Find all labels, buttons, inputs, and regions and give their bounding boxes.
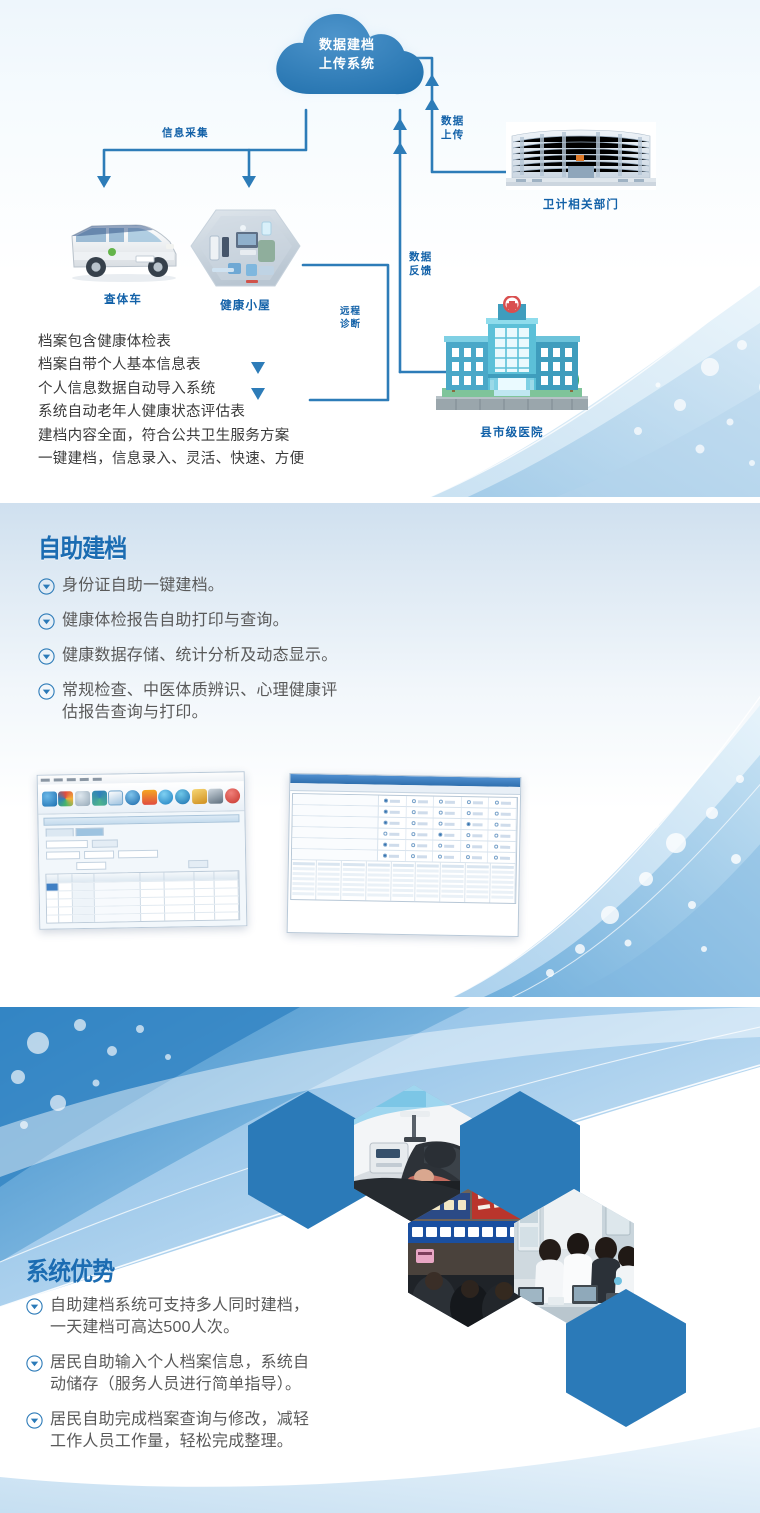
cell	[95, 890, 141, 898]
cell	[165, 913, 195, 921]
option-2[interactable]	[406, 818, 434, 828]
bullet-line-2: 工作人员工作量，轻松完成整理。	[50, 1431, 309, 1453]
flow-label-remote-diagnosis: 远程 诊断	[340, 306, 361, 332]
cell	[165, 905, 195, 913]
query-button[interactable]	[92, 839, 118, 847]
flow-label-info-collect: 信息采集	[162, 126, 209, 140]
cell	[195, 913, 215, 920]
mobile-checkup-van-image	[62, 212, 184, 284]
bullet-line-1: 居民自助完成档案查询与修改，减轻	[50, 1411, 309, 1428]
option-1[interactable]	[379, 796, 407, 806]
checkbox-group[interactable]	[46, 862, 72, 870]
option-4[interactable]	[462, 797, 490, 807]
toolbar-icon-search[interactable]	[75, 791, 90, 806]
option-4[interactable]	[461, 830, 489, 840]
feature-item: 建档内容全面，符合公共卫生服务方案	[38, 425, 458, 448]
section3-bullet-list: 自助建档系统可支持多人同时建档， 一天建档可高达500人次。 居民自助输入个人档…	[26, 1295, 466, 1466]
app-workspace	[38, 811, 247, 930]
flow-label-data-feedback-line1: 数据	[409, 250, 432, 264]
option-5[interactable]	[488, 852, 516, 862]
cell	[59, 883, 73, 890]
question-cell	[293, 794, 379, 805]
option-3[interactable]	[433, 830, 461, 840]
bullet-line-1: 自助建档系统可支持多人同时建档，	[50, 1297, 309, 1314]
cloud-line-2: 上传系统	[262, 55, 432, 74]
cell	[47, 915, 59, 922]
list-item-text: 常规检查、中医体质辨识、心理健康评 估报告查询与打印。	[62, 680, 337, 724]
cell	[215, 888, 239, 895]
menu-item[interactable]	[93, 778, 102, 781]
question-cell	[292, 827, 378, 838]
cell	[195, 897, 215, 904]
cell	[47, 907, 59, 914]
cell	[47, 891, 59, 898]
cell	[165, 881, 195, 889]
chevron-down-circle-icon	[38, 683, 55, 700]
matrix-column[interactable]	[341, 861, 367, 900]
col-gender	[140, 873, 164, 881]
cell	[59, 899, 73, 906]
cell	[141, 914, 165, 921]
option-4[interactable]	[461, 852, 489, 862]
feature-item: 系统自动老年人健康状态评估表	[38, 401, 458, 424]
option-5[interactable]	[489, 819, 517, 829]
option-3[interactable]	[433, 841, 461, 851]
cloud-line-1: 数据建档	[262, 36, 432, 55]
health-hut-image	[188, 206, 303, 292]
toolbar-icon-chart[interactable]	[142, 790, 157, 805]
bullet-line-1: 常规检查、中医体质辨识、心理健康评	[62, 682, 337, 699]
list-item-text: 居民自助完成档案查询与修改，减轻 工作人员工作量，轻松完成整理。	[50, 1409, 309, 1453]
question-cell	[293, 805, 379, 816]
toolbar-icon-refresh[interactable]	[175, 789, 190, 804]
bullet-line-2: 一天建档可高达500人次。	[50, 1317, 309, 1339]
col-remark	[214, 871, 238, 879]
date-input[interactable]	[46, 839, 88, 848]
option-3[interactable]	[434, 819, 462, 829]
cell	[59, 915, 73, 922]
cell	[73, 899, 95, 906]
cell	[95, 882, 141, 890]
flow-label-data-feedback: 数据 反馈	[409, 250, 432, 278]
matrix-column[interactable]	[416, 862, 442, 901]
feature-item: 一键建档，信息录入、灵活、快速、方便	[38, 448, 458, 471]
list-item-text: 自助建档系统可支持多人同时建档， 一天建档可高达500人次。	[50, 1295, 309, 1339]
menu-item[interactable]	[80, 778, 89, 781]
option-3[interactable]	[434, 797, 462, 807]
option-1[interactable]	[378, 851, 406, 861]
option-2[interactable]	[406, 829, 434, 839]
option-3[interactable]	[434, 808, 462, 818]
section3-title: 系统优势	[26, 1252, 114, 1288]
cell	[141, 890, 165, 897]
option-1[interactable]	[379, 807, 407, 817]
cell	[47, 883, 59, 890]
option-5[interactable]	[489, 797, 517, 807]
option-2[interactable]	[406, 807, 434, 817]
cell	[141, 882, 165, 889]
cell	[215, 904, 239, 911]
question-cell	[292, 838, 378, 849]
option-3[interactable]	[433, 852, 461, 862]
cell	[195, 881, 215, 888]
menu-item[interactable]	[41, 779, 50, 782]
assessment-table	[290, 793, 518, 904]
bullet-line-2: 动储存（服务人员进行简单指导）。	[50, 1374, 309, 1396]
cloud-label: 数据建档 上传系统	[262, 36, 432, 74]
question-cell	[292, 849, 378, 860]
toolbar-icon-tools[interactable]	[208, 789, 223, 804]
section2-title: 自助建档	[38, 529, 126, 565]
bullet-line-1: 健康体检报告自助打印与查询。	[62, 612, 289, 629]
unit-input[interactable]	[46, 851, 80, 860]
col-date	[164, 872, 194, 881]
cell	[165, 889, 195, 897]
flow-label-remote-diagnosis-line2: 诊断	[340, 319, 361, 332]
flow-label-remote-diagnosis-line1: 远程	[340, 306, 361, 319]
poster-page: 数据建档 上传系统 信息采集 数据 上传 数据 反馈 远程 诊断	[0, 0, 760, 1513]
list-item: 健康体检报告自助打印与查询。	[38, 610, 478, 632]
matrix-column[interactable]	[490, 864, 516, 903]
section-system-advantages: 系统优势 自助建档系统可支持多人同时建档， 一天建档可高达500人次。	[0, 1007, 760, 1513]
section-flow-diagram: 数据建档 上传系统 信息采集 数据 上传 数据 反馈 远程 诊断	[0, 0, 760, 497]
list-item-text: 健康数据存储、统计分析及动态显示。	[62, 645, 337, 667]
section-self-service-archiving: 自助建档 身份证自助一键建档。 健康体检报告自助打印与查询。	[0, 503, 760, 997]
screenshot-assessment-form-app[interactable]	[287, 773, 522, 937]
toolbar-icon-document[interactable]	[108, 790, 123, 805]
cell	[141, 898, 165, 905]
section2-bullet-list: 身份证自助一键建档。 健康体检报告自助打印与查询。 健康数据存储、统计分	[38, 575, 478, 737]
chevron-down-circle-icon	[38, 648, 55, 665]
cell	[95, 898, 141, 906]
tab-strip	[46, 825, 242, 836]
cell	[215, 896, 239, 903]
bullet-line-1: 健康数据存储、统计分析及动态显示。	[62, 647, 337, 664]
chevron-down-circle-icon	[26, 1298, 43, 1315]
list-item: 居民自助完成档案查询与修改，减轻 工作人员工作量，轻松完成整理。	[26, 1409, 466, 1453]
bullet-line-2: 估报告查询与打印。	[62, 702, 337, 724]
toolbar-icon-print[interactable]	[42, 791, 57, 806]
chevron-down-circle-icon	[38, 613, 55, 630]
option-2[interactable]	[406, 840, 434, 850]
name-input[interactable]	[84, 850, 114, 859]
node-label-health-van: 查体车	[62, 291, 184, 307]
col-idcard	[94, 873, 140, 882]
toolbar-icon-exit[interactable]	[225, 788, 240, 803]
question-cell	[292, 816, 378, 827]
list-item: 常规检查、中医体质辨识、心理健康评 估报告查询与打印。	[38, 680, 478, 724]
flow-label-data-feedback-line2: 反馈	[409, 264, 432, 278]
hex-solid-1	[248, 1091, 368, 1229]
option-1[interactable]	[378, 818, 406, 828]
checkbox[interactable]	[162, 860, 184, 868]
bullet-line-1: 居民自助输入个人档案信息，系统自	[50, 1354, 309, 1371]
cloud-node-data-upload-system: 数据建档 上传系统	[262, 6, 432, 110]
matrix-column[interactable]	[441, 863, 467, 902]
matrix-column[interactable]	[465, 863, 491, 902]
node-label-health-hut: 健康小屋	[188, 297, 303, 313]
col-index	[58, 874, 72, 882]
toolbar-icon-user[interactable]	[158, 789, 173, 804]
col-status	[194, 872, 214, 880]
chevron-down-circle-icon	[26, 1412, 43, 1429]
cell	[73, 907, 95, 914]
chevron-down-circle-icon	[26, 1355, 43, 1372]
menu-item[interactable]	[67, 778, 76, 781]
cell	[95, 906, 141, 914]
inner-window-titlebar	[43, 814, 239, 825]
cell	[215, 912, 239, 919]
cell	[73, 915, 95, 922]
date2-input[interactable]	[118, 849, 158, 858]
list-item-text: 身份证自助一键建档。	[62, 575, 224, 597]
cell	[195, 889, 215, 896]
option-4[interactable]	[461, 819, 489, 829]
flow-label-data-upload-line2: 上传	[441, 128, 464, 142]
app-toolbar	[38, 781, 244, 815]
archive-feature-list: 档案包含健康体检表 档案自带个人基本信息表 个人信息数据自动导入系统 系统自动老…	[38, 331, 458, 472]
option-2[interactable]	[405, 851, 433, 861]
tab-basic-info[interactable]	[46, 828, 74, 836]
cell	[215, 880, 239, 887]
option-5[interactable]	[489, 830, 517, 840]
cell	[73, 883, 95, 890]
menu-item[interactable]	[54, 778, 63, 781]
option-4[interactable]	[461, 808, 489, 818]
option-2[interactable]	[406, 796, 434, 806]
matrix-column[interactable]	[366, 861, 392, 900]
cell	[73, 891, 95, 898]
toolbar-icon-key[interactable]	[192, 789, 207, 804]
tab-archive-query[interactable]	[76, 828, 104, 836]
col-name	[72, 874, 94, 882]
flow-label-data-upload: 数据 上传	[441, 114, 464, 142]
option-1[interactable]	[378, 840, 406, 850]
list-item-text: 居民自助输入个人档案信息，系统自 动储存（服务人员进行简单指导）。	[50, 1352, 309, 1396]
node-label-health-authority: 卫计相关部门	[506, 196, 656, 212]
col-check	[46, 874, 58, 882]
feature-item: 档案自带个人基本信息表	[38, 354, 458, 377]
reset-button[interactable]	[188, 859, 208, 867]
list-item: 健康数据存储、统计分析及动态显示。	[38, 645, 478, 667]
checkbox[interactable]	[110, 861, 132, 869]
matrix-column[interactable]	[291, 860, 317, 899]
feature-item: 个人信息数据自动导入系统	[38, 378, 458, 401]
option-1[interactable]	[378, 829, 406, 839]
cell	[95, 914, 141, 922]
matrix-column[interactable]	[391, 862, 417, 901]
filter-row	[46, 858, 238, 870]
cell	[59, 891, 73, 898]
option-5[interactable]	[488, 841, 516, 851]
records-table	[45, 870, 240, 923]
feature-item: 档案包含健康体检表	[38, 331, 458, 354]
toolbar-icon-palette[interactable]	[58, 791, 73, 806]
filter-label	[162, 849, 196, 858]
toolbar-icon-settings[interactable]	[125, 790, 140, 805]
bullet-line-1: 身份证自助一键建档。	[62, 577, 224, 594]
cell	[47, 899, 59, 906]
list-item-text: 健康体检报告自助打印与查询。	[62, 610, 289, 632]
cell	[195, 905, 215, 912]
cell	[59, 907, 73, 914]
list-item: 居民自助输入个人档案信息，系统自 动储存（服务人员进行简单指导）。	[26, 1352, 466, 1396]
checkbox-matrix	[291, 860, 516, 903]
health-authority-building-image	[506, 122, 656, 190]
checkbox[interactable]	[136, 860, 158, 868]
cell	[165, 897, 195, 905]
matrix-column[interactable]	[316, 860, 342, 899]
list-item: 身份证自助一键建档。	[38, 575, 478, 597]
chevron-down-circle-icon	[38, 578, 55, 595]
toolbar-icon-globe[interactable]	[92, 791, 107, 806]
screenshot-archive-management-app[interactable]	[37, 771, 248, 930]
cell	[141, 906, 165, 913]
list-item: 自助建档系统可支持多人同时建档， 一天建档可高达500人次。	[26, 1295, 466, 1339]
option-4[interactable]	[461, 841, 489, 851]
option-5[interactable]	[489, 808, 517, 818]
flow-label-data-upload-line1: 数据	[441, 114, 464, 128]
id-input[interactable]	[76, 861, 106, 870]
